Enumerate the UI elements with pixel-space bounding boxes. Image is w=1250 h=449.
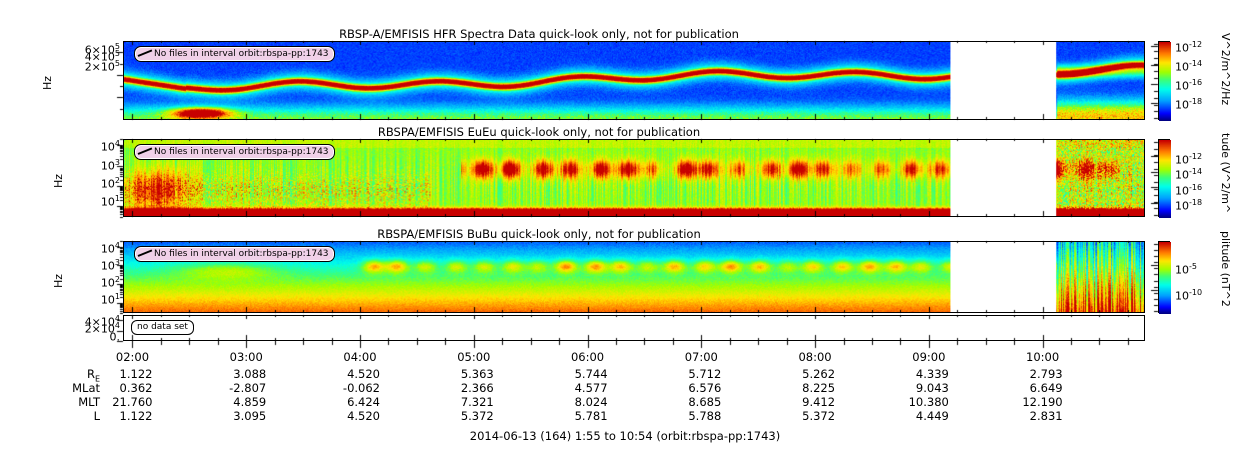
ephemeris-cell: 6.424	[314, 395, 380, 409]
no-data-set-box: no data set	[131, 320, 194, 335]
message-box-eueu: No files in interval orbit:rbspa-pp:1743	[134, 144, 335, 160]
x-tick-label: 03:00	[226, 350, 266, 364]
ylabel-eueu: Hz	[52, 174, 65, 188]
cbtick-bubu-0: 10-5	[1175, 262, 1197, 277]
ephemeris-cell: 8.225	[769, 381, 835, 395]
x-tick-label: 02:00	[112, 350, 152, 364]
ephemeris-cell: 5.262	[769, 367, 835, 381]
ytick-eueu-1: 103	[73, 158, 120, 173]
panel-eueu[interactable]: No files in interval orbit:rbspa-pp:1743	[123, 139, 1145, 217]
ephemeris-cell: 1.122	[86, 367, 152, 381]
ephemeris-cell: 4.859	[200, 395, 266, 409]
ytick-eueu-0: 104	[73, 139, 120, 154]
ephemeris-cell: 9.043	[883, 381, 949, 395]
ytick-hfr-2: 2×105	[58, 59, 120, 74]
colorbar-label-eueu: tude (V^2/m^	[1219, 133, 1232, 213]
panel-title-hfr: RBSP-A/EMFISIS HFR Spectra Data quick-lo…	[123, 27, 955, 41]
ephemeris-cell: 7.321	[428, 395, 494, 409]
colorbar-label-bubu: plitude (nT^2	[1219, 231, 1232, 307]
x-tick-label: 05:00	[454, 350, 494, 364]
ytick-eueu-3: 101	[73, 194, 120, 209]
x-tick-label: 10:00	[1023, 350, 1063, 364]
ephemeris-cell: 12.190	[997, 395, 1063, 409]
ephemeris-cell: 1.122	[86, 409, 152, 423]
x-tick-label: 08:00	[795, 350, 835, 364]
ephemeris-cell: 5.372	[769, 409, 835, 423]
cbtick-eueu-0: 10-12	[1175, 152, 1202, 167]
ytick-empty-2: 0.	[58, 329, 120, 344]
x-tick-label: 04:00	[340, 350, 380, 364]
figure-root: RBSP-A/EMFISIS HFR Spectra Data quick-lo…	[0, 0, 1250, 449]
x-tick-label: 09:00	[909, 350, 949, 364]
ephemeris-cell: 0.362	[86, 381, 152, 395]
ylabel-bubu: Hz	[52, 274, 65, 288]
ytick-bubu-1: 103	[73, 258, 120, 273]
cbtick-eueu-3: 10-18	[1175, 198, 1202, 213]
no-files-slash-icon	[138, 49, 152, 57]
ytick-bubu-2: 102	[73, 275, 120, 290]
cbtick-hfr-3: 10-18	[1175, 97, 1202, 112]
ephemeris-cell: 6.649	[997, 381, 1063, 395]
panel-title-eueu: RBSPA/EMFISIS EuEu quick-look only, not …	[123, 125, 955, 139]
cbtick-eueu-2: 10-16	[1175, 183, 1202, 198]
message-box-hfr: No files in interval orbit:rbspa-pp:1743	[134, 46, 335, 62]
cbtick-hfr-2: 10-16	[1175, 78, 1202, 93]
figure-caption: 2014-06-13 (164) 1:55 to 10:54 (orbit:rb…	[0, 429, 1250, 443]
colorbar-bubu	[1158, 241, 1170, 313]
cbtick-bubu-1: 10-10	[1175, 288, 1202, 303]
cbtick-hfr-1: 10-14	[1175, 59, 1202, 74]
ephemeris-cell: 4.577	[542, 381, 608, 395]
ephemeris-cell: 5.363	[428, 367, 494, 381]
ephemeris-cell: 4.339	[883, 367, 949, 381]
ephemeris-cell: 4.449	[883, 409, 949, 423]
x-tick-label: 07:00	[681, 350, 721, 364]
ephemeris-cell: 2.793	[997, 367, 1063, 381]
ephemeris-cell: -0.062	[314, 381, 380, 395]
ephemeris-cell: 3.088	[200, 367, 266, 381]
panel-hfr-spectra[interactable]: No files in interval orbit:rbspa-pp:1743	[123, 41, 1145, 120]
no-files-slash-icon	[138, 147, 152, 155]
no-files-slash-icon	[138, 249, 152, 257]
ephemeris-cell: 2.831	[997, 409, 1063, 423]
ephemeris-cell: -2.807	[200, 381, 266, 395]
message-box-bubu: No files in interval orbit:rbspa-pp:1743	[134, 246, 335, 262]
ephemeris-cell: 5.712	[655, 367, 721, 381]
ephemeris-cell: 2.366	[428, 381, 494, 395]
colorbar-label-hfr: V^2/m^2/Hz	[1219, 33, 1232, 105]
ephemeris-cell: 8.024	[542, 395, 608, 409]
ephemeris-cell: 21.760	[86, 395, 152, 409]
ephemeris-cell: 3.095	[200, 409, 266, 423]
ephemeris-cell: 4.520	[314, 367, 380, 381]
ephemeris-cell: 10.380	[883, 395, 949, 409]
ephemeris-cell: 5.372	[428, 409, 494, 423]
ylabel-hfr: Hz	[41, 76, 54, 90]
ytick-bubu-3: 101	[73, 292, 120, 307]
ephemeris-cell: 4.520	[314, 409, 380, 423]
colorbar-hfr	[1158, 41, 1170, 120]
ephemeris-cell: 5.744	[542, 367, 608, 381]
ytick-eueu-2: 102	[73, 176, 120, 191]
x-tick-label: 06:00	[568, 350, 608, 364]
cbtick-eueu-1: 10-14	[1175, 167, 1202, 182]
ephemeris-cell: 8.685	[655, 395, 721, 409]
panel-empty[interactable]: no data set	[123, 315, 1145, 341]
ephemeris-cell: 9.412	[769, 395, 835, 409]
panel-title-bubu: RBSPA/EMFISIS BuBu quick-look only, not …	[123, 227, 955, 241]
ephemeris-cell: 6.576	[655, 381, 721, 395]
ytick-bubu-0: 104	[73, 241, 120, 256]
cbtick-hfr-0: 10-12	[1175, 40, 1202, 55]
ephemeris-cell: 5.781	[542, 409, 608, 423]
colorbar-eueu	[1158, 139, 1170, 217]
ephemeris-cell: 5.788	[655, 409, 721, 423]
panel-bubu[interactable]: No files in interval orbit:rbspa-pp:1743	[123, 241, 1145, 313]
